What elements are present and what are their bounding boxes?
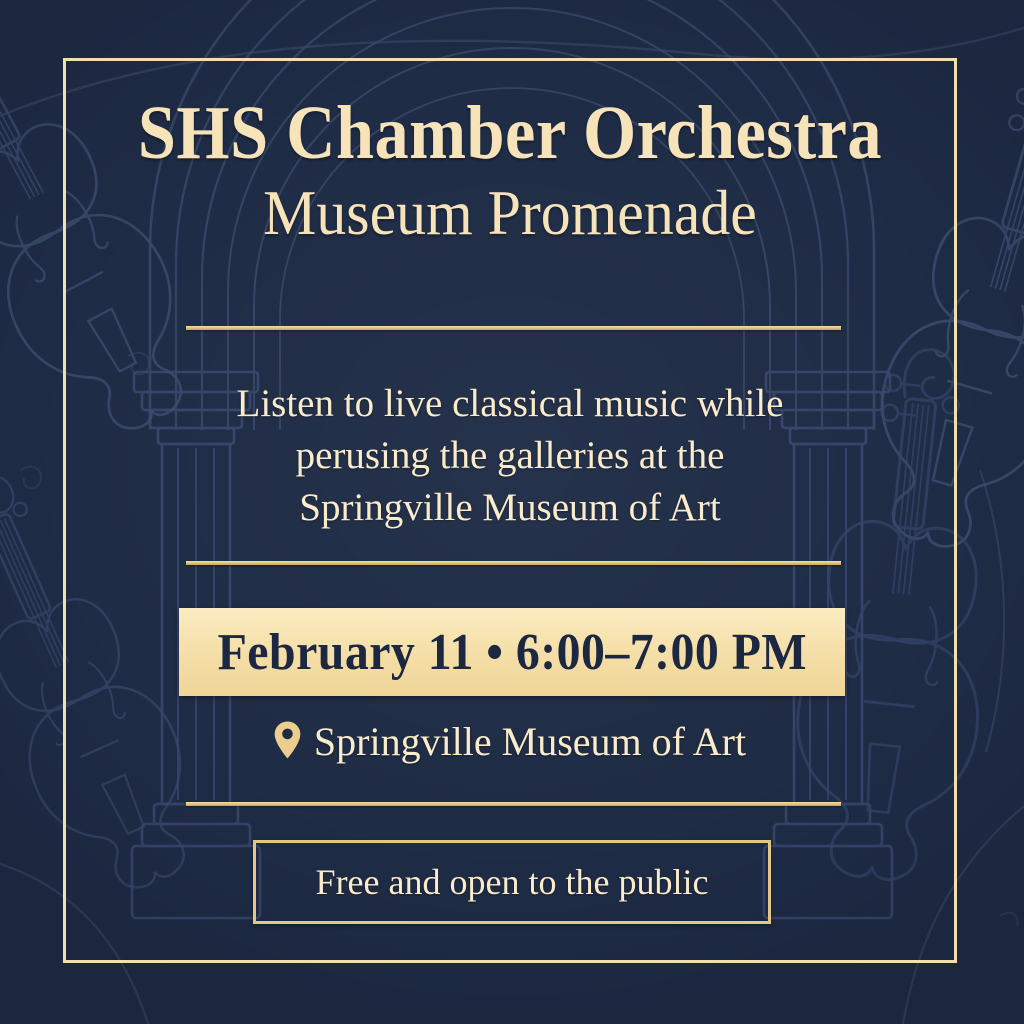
- date-time-banner: February 11 • 6:00–7:00 PM: [179, 608, 845, 696]
- date-time-text: February 11 • 6:00–7:00 PM: [217, 623, 806, 682]
- poster-content: SHS Chamber Orchestra Museum Promenade L…: [63, 58, 957, 963]
- divider-rule-middle: [186, 561, 841, 565]
- event-description: Listen to live classical music while per…: [153, 378, 867, 534]
- event-poster: SHS Chamber Orchestra Museum Promenade L…: [0, 0, 1024, 1024]
- page-subtitle: Museum Promenade: [85, 180, 934, 246]
- admission-note-box: Free and open to the public: [253, 840, 771, 924]
- location-name: Springville Museum of Art: [314, 718, 746, 765]
- location-row: Springville Museum of Art: [63, 718, 957, 765]
- divider-rule-bottom: [186, 802, 841, 806]
- divider-rule-top: [186, 326, 841, 330]
- description-line-2: perusing the galleries at the: [153, 430, 867, 482]
- page-title: SHS Chamber Orchestra: [108, 96, 913, 170]
- description-line-1: Listen to live classical music while: [153, 378, 867, 430]
- description-line-3: Springville Museum of Art: [153, 482, 867, 534]
- admission-note-text: Free and open to the public: [316, 861, 709, 903]
- map-pin-icon: [274, 720, 301, 760]
- title-block: SHS Chamber Orchestra Museum Promenade: [63, 96, 957, 247]
